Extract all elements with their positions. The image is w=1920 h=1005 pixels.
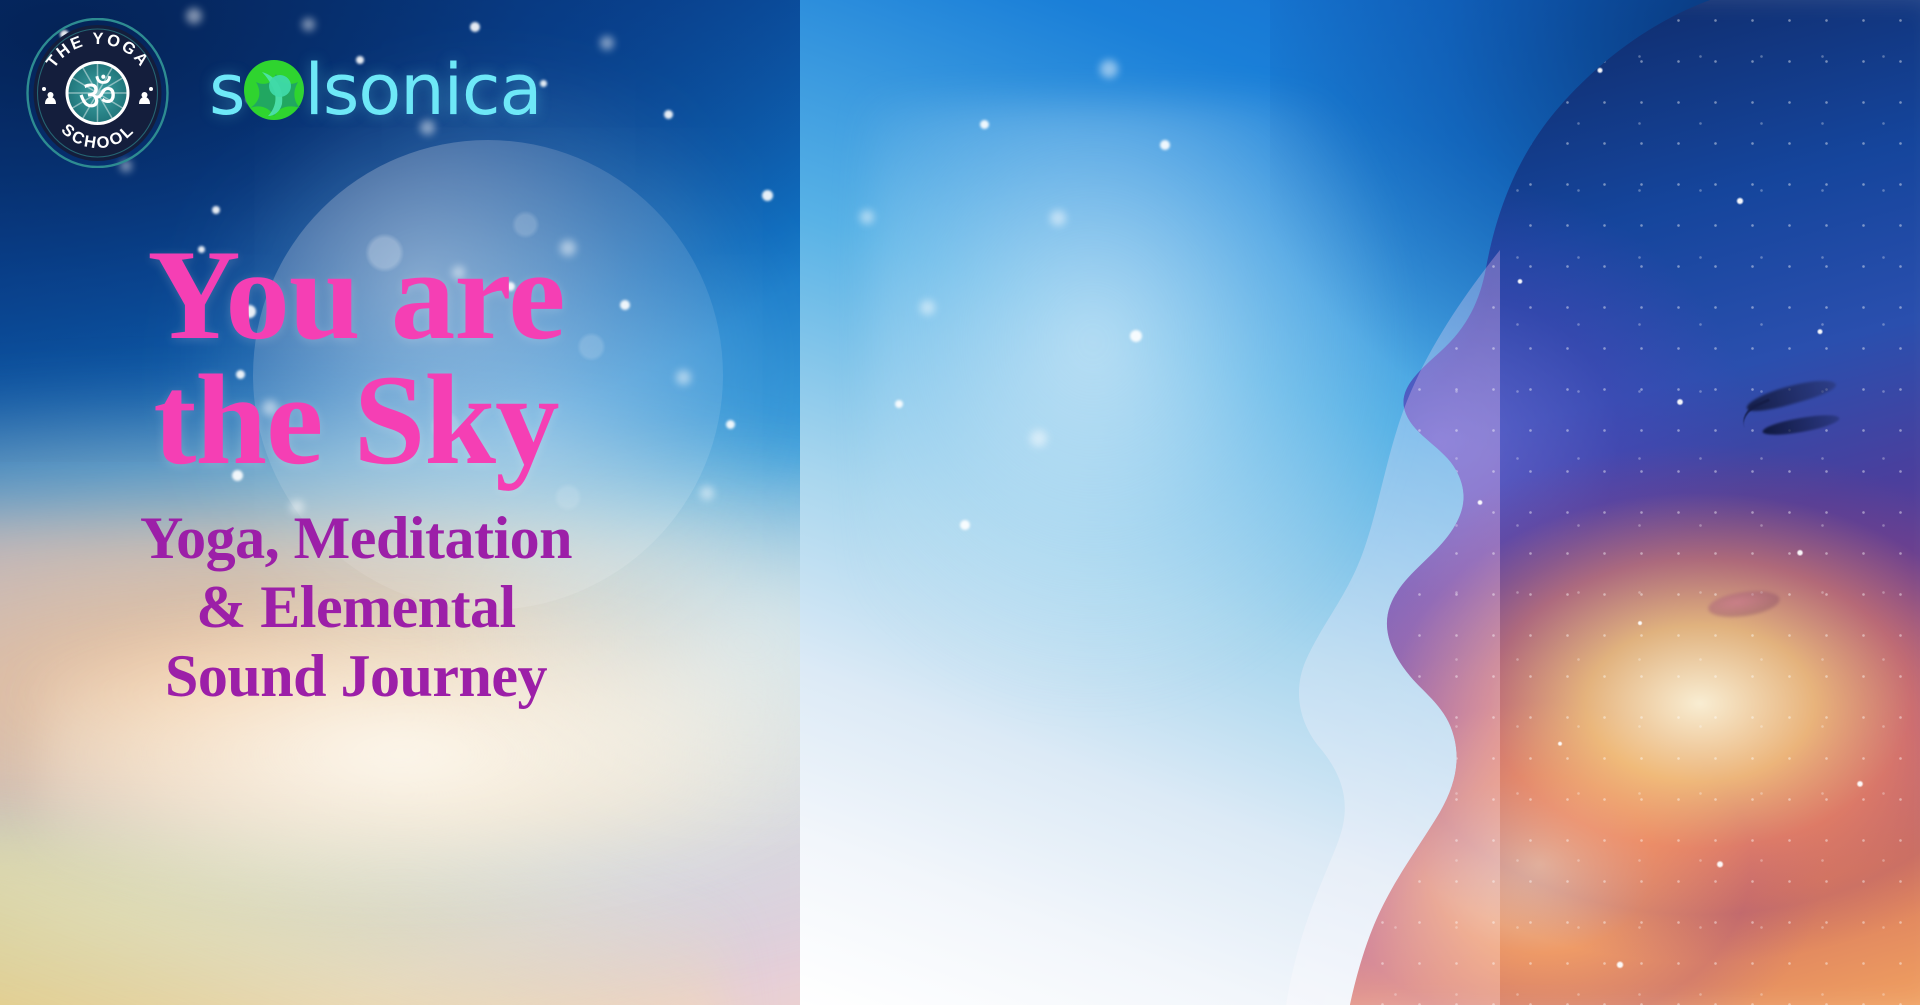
headline-line-2: the Sky bbox=[12, 357, 700, 482]
solsonica-wordmark[interactable]: s lsonica bbox=[209, 55, 541, 125]
bokeh-dot bbox=[1130, 330, 1142, 342]
subtitle-line-2: & Elemental bbox=[12, 573, 700, 642]
bokeh-dot bbox=[895, 400, 903, 408]
bokeh-dot bbox=[600, 36, 614, 50]
headline-line-1: You are bbox=[147, 223, 564, 366]
page-title: You are the Sky bbox=[0, 232, 700, 482]
bokeh-dot bbox=[726, 420, 735, 429]
bokeh-dot bbox=[1100, 60, 1118, 78]
wordmark-letter-s: s bbox=[209, 55, 244, 125]
event-banner: ॐ THE YOGA SCHOOL s bbox=[0, 0, 1920, 1005]
portrait-glow bbox=[867, 101, 1405, 704]
bokeh-dot bbox=[302, 18, 315, 31]
bokeh-dot bbox=[1160, 140, 1170, 150]
portrait-artwork bbox=[800, 0, 1920, 1005]
bokeh-dot bbox=[1050, 210, 1066, 226]
bokeh-dot bbox=[470, 22, 480, 32]
wordmark-text: lsonica bbox=[304, 55, 541, 125]
bokeh-dot bbox=[920, 300, 935, 315]
bokeh-dot bbox=[1030, 430, 1047, 447]
bokeh-dot bbox=[860, 210, 874, 224]
bokeh-dot bbox=[980, 120, 989, 129]
bokeh-dot bbox=[212, 206, 220, 214]
bokeh-dot bbox=[762, 190, 773, 201]
bokeh-dot bbox=[960, 520, 970, 530]
subtitle-line-1: Yoga, Meditation bbox=[12, 504, 700, 573]
bokeh-dot bbox=[186, 8, 202, 24]
copy-block: You are the Sky Yoga, Meditation & Eleme… bbox=[0, 232, 700, 711]
subtitle-line-3: Sound Journey bbox=[12, 642, 700, 711]
solsonica-wave-leaf-icon bbox=[242, 58, 306, 122]
subtitle: Yoga, Meditation & Elemental Sound Journ… bbox=[0, 504, 700, 711]
om-symbol-icon: ॐ bbox=[78, 71, 116, 120]
bokeh-dot bbox=[700, 486, 714, 500]
bokeh-dot bbox=[664, 110, 673, 119]
yoga-school-logo[interactable]: ॐ THE YOGA SCHOOL bbox=[26, 18, 169, 168]
